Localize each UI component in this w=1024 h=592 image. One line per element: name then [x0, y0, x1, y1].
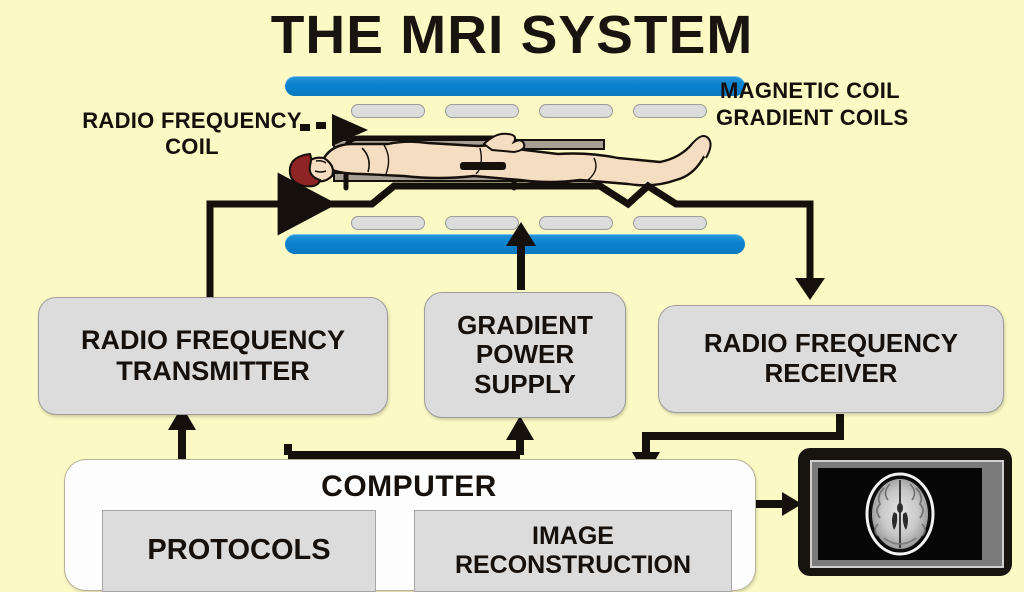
- monitor-screen: [818, 468, 982, 560]
- mri-system-diagram: THE MRI SYSTEM: [0, 0, 1024, 576]
- block-gradient-power-supply[interactable]: GRADIENT POWER SUPPLY: [424, 292, 626, 418]
- module-image-reconstruction[interactable]: IMAGE RECONSTRUCTION: [414, 510, 732, 592]
- module-protocols[interactable]: PROTOCOLS: [102, 510, 376, 592]
- computer-title: COMPUTER: [64, 470, 754, 504]
- block-rf-transmitter[interactable]: RADIO FREQUENCY TRANSMITTER: [38, 297, 388, 415]
- mri-brain-scan-image: [818, 468, 982, 560]
- block-rf-receiver[interactable]: RADIO FREQUENCY RECEIVER: [658, 305, 1004, 413]
